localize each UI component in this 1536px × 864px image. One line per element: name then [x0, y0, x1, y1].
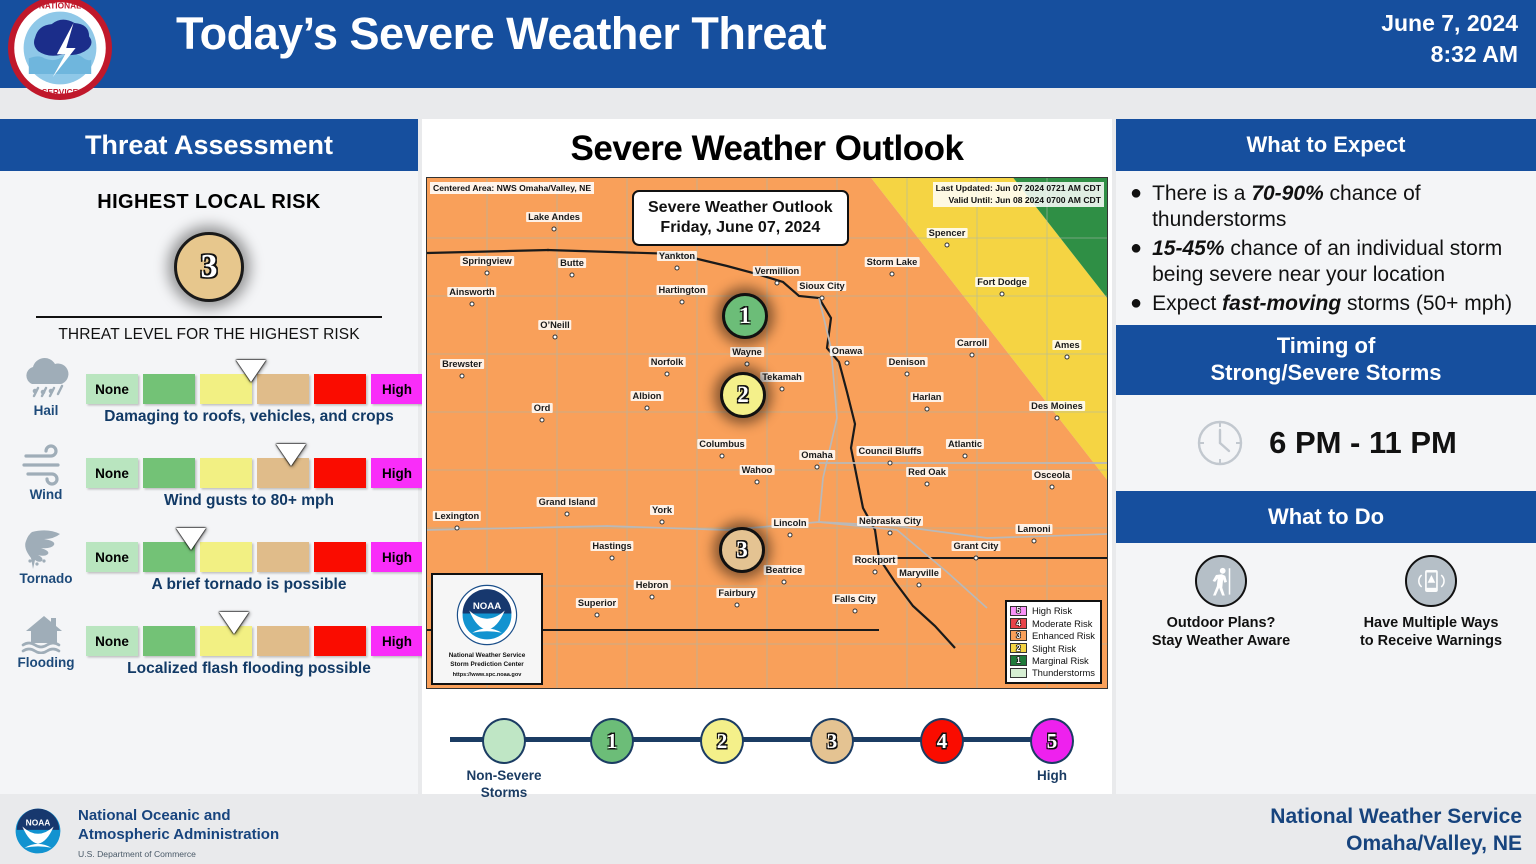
scale-segment-1 [143, 374, 195, 404]
map-city-dot [680, 300, 685, 305]
map-city-dot [610, 556, 615, 561]
scale-segment-4 [314, 458, 366, 488]
header-date: June 7, 2024 [1381, 8, 1518, 39]
scale-segment-5: High [371, 458, 423, 488]
scale-segment-4 [314, 542, 366, 572]
map-city-label: Carroll [955, 338, 989, 348]
hazard-name: Flooding [18, 655, 75, 670]
map-legend-row: 1Marginal Risk [1010, 654, 1095, 666]
map-city-dot [675, 266, 680, 271]
hazard-level-marker [236, 360, 266, 382]
hail-cloud-icon [18, 358, 74, 402]
scale-segment-5: High [371, 374, 423, 404]
bullet-icon: ● [1130, 236, 1142, 262]
map-city-dot [1050, 485, 1055, 490]
map-city-label: Beatrice [764, 565, 805, 575]
highest-risk-badge-wrap: 3 [0, 228, 418, 306]
map-city-dot [755, 480, 760, 485]
page-header: NATIONAL SERVICE Today’s Severe Weather … [0, 0, 1536, 88]
divider [36, 316, 382, 318]
threat-level-caption: THREAT LEVEL FOR THE HIGHEST RISK [0, 326, 418, 344]
map-city-label: Columbus [697, 439, 746, 449]
hazard-icon-column: Hail [10, 358, 82, 418]
map-city-label: Maryville [897, 568, 941, 578]
spc-logo-box: NOAA National Weather Service Storm Pred… [431, 573, 543, 685]
scale-segment-4 [314, 374, 366, 404]
map-city-label: Denison [887, 357, 928, 367]
severe-weather-outlook-map[interactable]: Centered Area: NWS Omaha/Valley, NE Last… [426, 177, 1108, 689]
map-legend-row: 3Enhanced Risk [1010, 629, 1095, 641]
map-city-label: Onawa [830, 346, 864, 356]
map-city-label: Osceola [1032, 470, 1072, 480]
page-title: Today’s Severe Weather Threat [176, 8, 826, 60]
scale-segment-2 [200, 458, 252, 488]
map-city-label: Hebron [634, 580, 671, 590]
map-city-label: Lamoni [1015, 524, 1052, 534]
hazard-scale: NoneHigh [86, 626, 423, 656]
expect-emphasis: fast-moving [1222, 292, 1341, 315]
scale-segment-0: None [86, 374, 138, 404]
risk-scale-node-2: 2 [700, 718, 744, 764]
map-valid-info: Last Updated: Jun 07 2024 0721 AM CDT Va… [933, 182, 1104, 207]
map-city-dot [780, 387, 785, 392]
map-city-dot [905, 372, 910, 377]
hazard-list: HailNoneHighDamaging to roofs, vehicles,… [0, 356, 418, 692]
map-city-dot [775, 281, 780, 286]
map-city-label: Grant City [952, 541, 1001, 551]
expect-emphasis: 15-45% [1152, 237, 1224, 260]
map-legend-label: Marginal Risk [1032, 655, 1089, 666]
map-legend-swatch: 1 [1010, 655, 1027, 666]
map-city-label: Springview [460, 256, 514, 266]
map-city-dot [455, 526, 460, 531]
todo-label: Outdoor Plans? Stay Weather Aware [1126, 614, 1316, 650]
map-city-label: Lincoln [771, 518, 808, 528]
map-city-dot [565, 512, 570, 517]
map-city-label: Council Bluffs [856, 446, 923, 456]
map-city-dot [540, 418, 545, 423]
outlook-panel: Severe Weather Outlook [422, 119, 1112, 794]
map-legend-label: Moderate Risk [1032, 618, 1092, 629]
map-city-label: Yankton [657, 251, 697, 261]
what-to-do-row: Outdoor Plans? Stay Weather Aware Have M… [1116, 543, 1536, 650]
map-city-label: Sioux City [797, 281, 846, 291]
risk-scale-node-non-severe [482, 718, 526, 764]
todo-label: Have Multiple Ways to Receive Warnings [1336, 614, 1526, 650]
todo-item: Have Multiple Ways to Receive Warnings [1336, 555, 1526, 650]
map-city-label: Rockport [853, 555, 898, 565]
scale-segment-0: None [86, 626, 138, 656]
footer-nws-line2: Omaha/Valley, NE [1270, 830, 1522, 857]
header-time: 8:32 AM [1381, 39, 1518, 70]
map-city-label: Omaha [799, 450, 835, 460]
map-city-label: York [650, 505, 674, 515]
map-city-dot [845, 361, 850, 366]
header-datetime: June 7, 2024 8:32 AM [1381, 8, 1518, 70]
map-city-label: Ainsworth [447, 287, 496, 297]
risk-scale-node-4: 4 [920, 718, 964, 764]
map-city-label: Red Oak [906, 467, 948, 477]
map-city-dot [1065, 355, 1070, 360]
timing-heading: Timing of Strong/Severe Storms [1116, 325, 1536, 395]
highest-risk-badge: 3 [174, 232, 244, 302]
map-city-dot [660, 520, 665, 525]
map-city-label: Ord [532, 403, 553, 413]
risk-scale-bar: Non-Severe Storms12345High [432, 702, 1102, 790]
hazard-name: Tornado [20, 571, 73, 586]
svg-text:NOAA: NOAA [26, 817, 51, 827]
map-city-dot [460, 374, 465, 379]
hazard-description: Wind gusts to 80+ mph [86, 492, 412, 510]
highest-local-risk-label: HIGHEST LOCAL RISK [0, 191, 418, 214]
expect-bullet-item: ●15-45% chance of an individual storm be… [1130, 236, 1522, 288]
map-legend-row: Thunderstorms [1010, 667, 1095, 679]
wind-icon [18, 442, 74, 486]
scale-segment-1 [143, 626, 195, 656]
hazard-icon-column: Tornado [10, 526, 82, 586]
map-risk-marker-2: 2 [720, 372, 766, 418]
expect-bullet-text: There is a 70-90% chance of thunderstorm… [1152, 181, 1522, 233]
map-city-dot [782, 580, 787, 585]
map-city-dot [595, 613, 600, 618]
tornado-icon [18, 526, 74, 570]
phone-alert-icon [1405, 555, 1457, 607]
spc-caption-line2: Storm Prediction Center [450, 661, 524, 670]
map-city-dot [815, 465, 820, 470]
map-legend-label: Thunderstorms [1032, 667, 1095, 678]
map-city-dot [650, 595, 655, 600]
expect-emphasis: 70-90% [1251, 182, 1323, 205]
map-title-box: Severe Weather Outlook Friday, June 07, … [632, 190, 849, 246]
map-city-label: Lake Andes [526, 212, 582, 222]
map-city-dot [974, 556, 979, 561]
what-to-expect-list: ●There is a 70-90% chance of thunderstor… [1116, 171, 1536, 317]
expect-bullet-text: Expect fast-moving storms (50+ mph) [1152, 291, 1512, 317]
outlook-title: Severe Weather Outlook [422, 119, 1112, 169]
map-city-dot [1032, 539, 1037, 544]
map-city-dot [552, 227, 557, 232]
map-city-dot [570, 273, 575, 278]
map-legend-row: 4Moderate Risk [1010, 617, 1095, 629]
noaa-name-line2: Atmospheric Administration [78, 826, 279, 845]
map-city-dot [888, 531, 893, 536]
svg-text:NOAA: NOAA [473, 601, 501, 612]
expect-bullet-item: ●Expect fast-moving storms (50+ mph) [1130, 291, 1522, 317]
hazard-row-flooding: FloodingNoneHighLocalized flash flooding… [0, 608, 418, 692]
todo-item: Outdoor Plans? Stay Weather Aware [1126, 555, 1316, 650]
timing-heading-line1: Timing of [1277, 333, 1376, 360]
page-footer: NOAA National Oceanic and Atmospheric Ad… [0, 797, 1536, 864]
map-city-dot [470, 302, 475, 307]
scale-segment-3 [257, 542, 309, 572]
map-city-dot [735, 603, 740, 608]
map-city-label: Spencer [927, 228, 968, 238]
weather-graphic-page: NATIONAL SERVICE Today’s Severe Weather … [0, 0, 1536, 864]
timing-row: 6 PM - 11 PM [1116, 395, 1536, 491]
map-city-dot [553, 335, 558, 340]
hazard-description: Damaging to roofs, vehicles, and crops [86, 408, 412, 426]
map-legend-swatch: 3 [1010, 630, 1027, 641]
map-city-dot [1000, 292, 1005, 297]
threat-assessment-heading: Threat Assessment [0, 119, 418, 171]
footer-nws-office: National Weather Service Omaha/Valley, N… [1270, 803, 1522, 858]
map-city-dot [853, 609, 858, 614]
map-city-label: O’Neill [538, 320, 571, 330]
hazard-row-hail: HailNoneHighDamaging to roofs, vehicles,… [0, 356, 418, 440]
map-city-dot [970, 353, 975, 358]
hazard-description: A brief tornado is possible [86, 576, 412, 594]
map-city-label: Albion [631, 391, 664, 401]
map-city-dot [963, 454, 968, 459]
map-city-dot [945, 243, 950, 248]
scale-segment-2 [200, 542, 252, 572]
map-city-label: Atlantic [946, 439, 984, 449]
hazard-scale: NoneHigh [86, 542, 423, 572]
map-legend: 5High Risk4Moderate Risk3Enhanced Risk2S… [1005, 600, 1102, 684]
timing-heading-line2: Strong/Severe Storms [1210, 360, 1441, 387]
hazard-icon-column: Flooding [10, 610, 82, 670]
map-centered-area: Centered Area: NWS Omaha/Valley, NE [430, 182, 594, 194]
noaa-logo-icon: NOAA [10, 803, 66, 859]
noaa-logo-icon: NOAA [450, 578, 524, 652]
map-city-label: Des Moines [1029, 401, 1085, 411]
map-legend-swatch [1010, 668, 1027, 679]
map-risk-marker-3: 3 [719, 527, 765, 573]
map-legend-label: High Risk [1032, 605, 1072, 616]
map-city-dot [925, 407, 930, 412]
scale-segment-5: High [371, 626, 423, 656]
hazard-icon-column: Wind [10, 442, 82, 502]
map-city-label: Fairbury [716, 588, 757, 598]
map-city-label: Hastings [590, 541, 633, 551]
scale-segment-4 [314, 626, 366, 656]
risk-scale-caption: High [1037, 768, 1067, 785]
map-city-label: Vermillion [753, 266, 801, 276]
hazard-scale: NoneHigh [86, 458, 423, 488]
map-city-label: Wahoo [740, 465, 775, 475]
map-city-dot [888, 461, 893, 466]
hazard-description: Localized flash flooding possible [86, 660, 412, 678]
expect-bullet-text: 15-45% chance of an individual storm bei… [1152, 236, 1522, 288]
spc-url: https://www.spc.noaa.gov [453, 672, 522, 678]
map-city-dot [788, 533, 793, 538]
map-city-label: Lexington [433, 511, 481, 521]
map-legend-swatch: 5 [1010, 606, 1027, 617]
map-city-dot [645, 406, 650, 411]
hazard-name: Hail [34, 403, 59, 418]
flooded-house-icon [18, 610, 74, 654]
hazard-level-marker [276, 444, 306, 466]
hazard-row-wind: WindNoneHighWind gusts to 80+ mph [0, 440, 418, 524]
map-city-label: Norfolk [649, 357, 686, 367]
map-title-line2: Friday, June 07, 2024 [648, 218, 833, 238]
map-legend-swatch: 2 [1010, 643, 1027, 654]
threat-assessment-panel: Threat Assessment HIGHEST LOCAL RISK 3 T… [0, 119, 418, 794]
risk-scale-node-5: 5 [1030, 718, 1074, 764]
map-city-dot [1055, 416, 1060, 421]
map-city-label: Hartington [657, 285, 708, 295]
risk-scale-node-1: 1 [590, 718, 634, 764]
what-to-do-heading: What to Do [1116, 491, 1536, 543]
map-city-label: Harlan [911, 392, 944, 402]
map-city-label: Fort Dodge [975, 277, 1029, 287]
bullet-icon: ● [1130, 291, 1142, 317]
guidance-panel: What to Expect ●There is a 70-90% chance… [1116, 119, 1536, 794]
clock-icon [1195, 418, 1245, 468]
map-legend-row: 5High Risk [1010, 605, 1095, 617]
scale-segment-1 [143, 458, 195, 488]
map-city-dot [720, 454, 725, 459]
footer-noaa-block: NOAA National Oceanic and Atmospheric Ad… [10, 803, 279, 859]
svg-text:SERVICE: SERVICE [42, 87, 79, 97]
noaa-name-line1: National Oceanic and [78, 807, 279, 826]
map-valid-until: Valid Until: Jun 08 2024 0700 AM CDT [936, 195, 1101, 207]
map-city-label: Butte [558, 258, 586, 268]
map-risk-marker-1: 1 [722, 293, 768, 339]
map-city-dot [890, 272, 895, 277]
map-city-dot [917, 583, 922, 588]
map-city-label: Ames [1052, 340, 1081, 350]
spc-caption-line1: National Weather Service [449, 652, 526, 661]
map-city-label: Wayne [730, 347, 764, 357]
scale-segment-5: High [371, 542, 423, 572]
map-legend-label: Slight Risk [1032, 643, 1076, 654]
map-city-label: Storm Lake [865, 257, 920, 267]
hazard-name: Wind [30, 487, 63, 502]
timing-value: 6 PM - 11 PM [1269, 425, 1457, 461]
risk-scale-node-3: 3 [810, 718, 854, 764]
map-city-dot [485, 271, 490, 276]
scale-segment-0: None [86, 542, 138, 572]
map-last-updated: Last Updated: Jun 07 2024 0721 AM CDT [936, 183, 1101, 195]
nws-seal-icon: NATIONAL SERVICE [8, 0, 112, 100]
svg-text:NATIONAL: NATIONAL [39, 0, 81, 10]
map-city-dot [665, 372, 670, 377]
map-city-label: Tekamah [760, 372, 804, 382]
hazard-row-tornado: TornadoNoneHighA brief tornado is possib… [0, 524, 418, 608]
hazard-level-marker [219, 612, 249, 634]
map-city-dot [745, 362, 750, 367]
map-legend-label: Enhanced Risk [1032, 630, 1095, 641]
expect-bullet-item: ●There is a 70-90% chance of thunderstor… [1130, 181, 1522, 233]
scale-segment-0: None [86, 458, 138, 488]
map-city-dot [873, 570, 878, 575]
bullet-icon: ● [1130, 181, 1142, 207]
map-city-dot [925, 482, 930, 487]
map-title-line1: Severe Weather Outlook [648, 198, 833, 218]
map-city-label: Superior [576, 598, 618, 608]
map-legend-row: 2Slight Risk [1010, 642, 1095, 654]
map-city-dot [820, 296, 825, 301]
scale-segment-3 [257, 626, 309, 656]
map-city-label: Grand Island [537, 497, 598, 507]
footer-nws-line1: National Weather Service [1270, 803, 1522, 830]
noaa-department: U.S. Department of Commerce [78, 849, 279, 859]
hazard-level-marker [176, 528, 206, 550]
map-city-label: Falls City [832, 594, 877, 604]
map-legend-swatch: 4 [1010, 618, 1027, 629]
what-to-expect-heading: What to Expect [1116, 119, 1536, 171]
hiker-icon [1195, 555, 1247, 607]
map-city-label: Nebraska City [857, 516, 923, 526]
map-city-label: Brewster [440, 359, 484, 369]
